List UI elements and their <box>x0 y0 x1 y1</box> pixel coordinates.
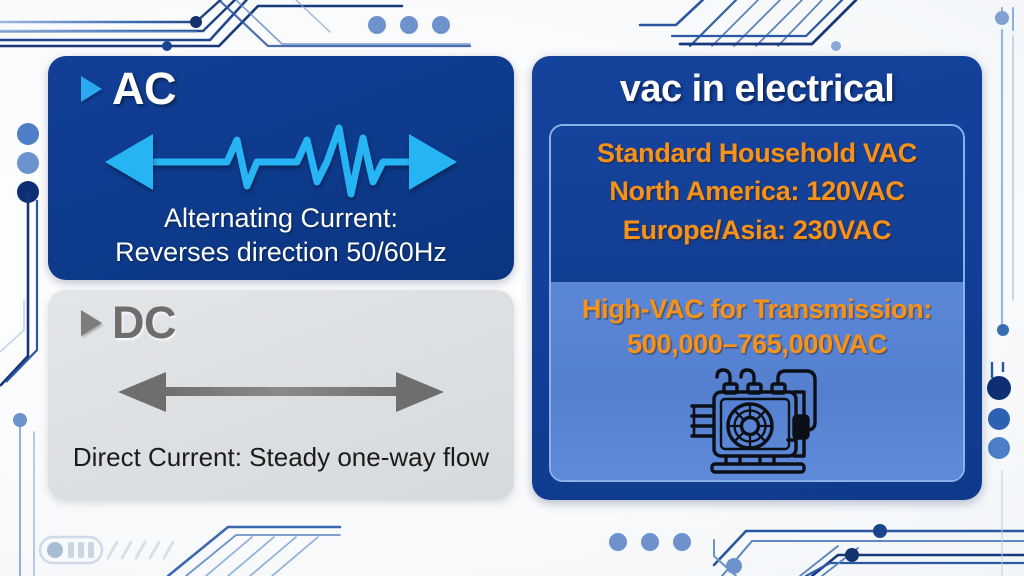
ac-card-caption: Alternating Current: Reverses direction … <box>48 202 514 270</box>
circuit-node-dot <box>162 41 172 51</box>
ac-caption-line-2: Reverses direction 50/60Hz <box>48 236 514 270</box>
power-transformer-icon <box>682 368 832 479</box>
circuit-node-dot <box>13 413 27 427</box>
household-vac-block: Standard Household VAC North America: 12… <box>551 126 963 282</box>
bottom-center-dot-cluster <box>340 533 691 551</box>
ac-card: AC Alternating Current: Reverses directi… <box>48 56 514 280</box>
ac-card-title: AC <box>112 66 176 111</box>
dc-card-title: DC <box>112 300 176 345</box>
play-triangle-icon <box>81 76 102 102</box>
vac-info-panel: vac in electrical Standard Household VAC… <box>532 56 982 500</box>
circuit-node-dot <box>831 41 841 51</box>
household-heading: Standard Household VAC <box>551 134 963 172</box>
circuit-node-dot <box>726 558 742 574</box>
circuit-node-dot <box>995 11 1009 25</box>
transmission-heading: High-VAC for Transmission: <box>551 292 963 327</box>
transmission-vac-block: High-VAC for Transmission: 500,000–765,0… <box>551 282 963 480</box>
right-edge-dot-cluster <box>987 362 1011 459</box>
household-north-america: North America: 120VAC <box>551 172 963 210</box>
household-europe-asia: Europe/Asia: 230VAC <box>551 211 963 249</box>
dc-card: DC Direct Current: Steady o <box>48 290 514 500</box>
transmission-value-range: 500,000–765,000VAC <box>551 327 963 362</box>
page-title: vac in electrical <box>532 68 982 111</box>
circuit-node-dot <box>873 524 887 538</box>
circuit-node-dot <box>845 548 859 562</box>
toggle-switch-decoration <box>40 537 173 563</box>
vac-values-box: Standard Household VAC North America: 12… <box>549 124 965 482</box>
ac-card-header: AC <box>81 66 176 111</box>
top-center-dot-cluster <box>368 16 640 34</box>
dc-card-header: DC <box>81 300 176 345</box>
transmission-text-group: High-VAC for Transmission: 500,000–765,0… <box>551 282 963 361</box>
slide-canvas: AC Alternating Current: Reverses directi… <box>0 0 1024 576</box>
alternating-current-waveform-icon <box>101 124 461 205</box>
circuit-node-dot <box>997 324 1009 336</box>
play-triangle-icon <box>81 310 102 336</box>
dc-card-caption: Direct Current: Steady one-way flow <box>48 442 514 473</box>
left-edge-dot-cluster <box>0 123 39 386</box>
circuit-node-dot <box>190 16 202 28</box>
ac-caption-line-1: Alternating Current: <box>48 202 514 236</box>
left-column: AC Alternating Current: Reverses directi… <box>48 56 514 500</box>
double-headed-arrow-icon <box>116 368 446 421</box>
